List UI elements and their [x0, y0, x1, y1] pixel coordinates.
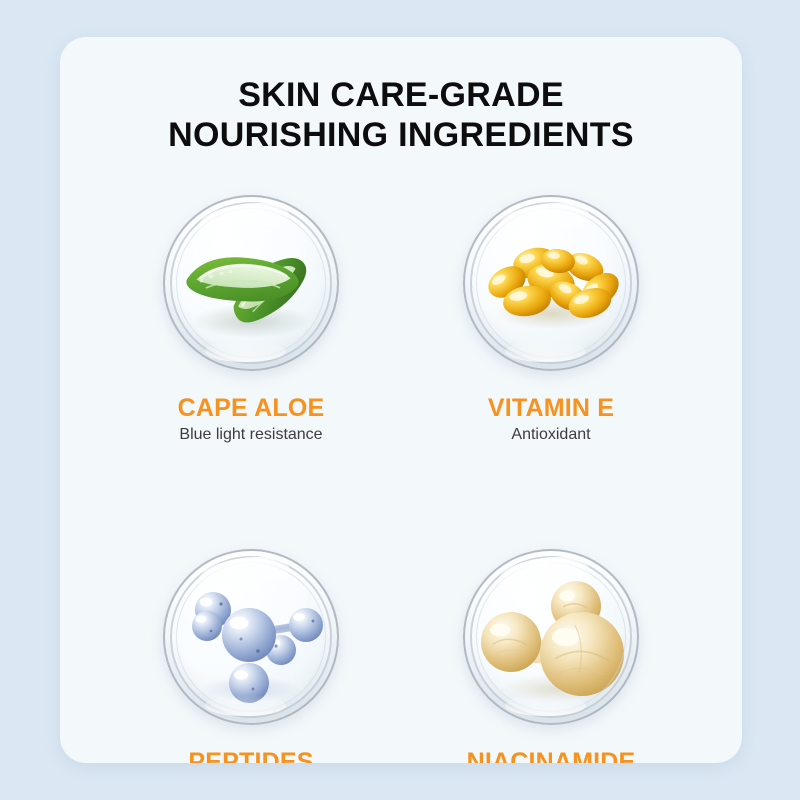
ingredient-description: Blue light resistance [178, 425, 325, 445]
page-background: SKIN CARE-GRADE NOURISHING INGREDIENTS [0, 0, 800, 800]
dish-inner-ring-secondary [176, 208, 326, 358]
ingredient-label-peptides: PEPTIDES Antioxidant [188, 725, 313, 763]
petri-dish-cape-aloe [163, 195, 339, 371]
ingredient-row-2: PEPTIDES Antioxidant [60, 549, 742, 763]
ingredient-item-niacinamide[interactable]: NIACINAMIDE Brightening [432, 549, 670, 763]
ingredient-card: SKIN CARE-GRADE NOURISHING INGREDIENTS [60, 37, 742, 763]
ingredient-item-vitamin-e[interactable]: VITAMIN E Antioxidant [432, 195, 670, 445]
petri-dish-vitamin-e [463, 195, 639, 371]
page-title-line-2: NOURISHING INGREDIENTS [60, 115, 742, 155]
dish-inner-ring-secondary [176, 562, 326, 712]
dish-inner-ring-secondary [476, 208, 626, 358]
ingredient-item-peptides[interactable]: PEPTIDES Antioxidant [132, 549, 370, 763]
ingredient-name: VITAMIN E [488, 394, 614, 422]
ingredient-grid: CAPE ALOE Blue light resistance [60, 195, 742, 763]
ingredient-name: CAPE ALOE [178, 394, 325, 422]
petri-dish-peptides [163, 549, 339, 725]
ingredient-description: Antioxidant [488, 425, 614, 445]
ingredient-label-cape-aloe: CAPE ALOE Blue light resistance [178, 371, 325, 445]
ingredient-label-vitamin-e: VITAMIN E Antioxidant [488, 371, 614, 445]
ingredient-item-cape-aloe[interactable]: CAPE ALOE Blue light resistance [132, 195, 370, 445]
petri-dish-niacinamide [463, 549, 639, 725]
ingredient-label-niacinamide: NIACINAMIDE Brightening [467, 725, 636, 763]
ingredient-name: PEPTIDES [188, 748, 313, 763]
ingredient-row-1: CAPE ALOE Blue light resistance [60, 195, 742, 445]
ingredient-name: NIACINAMIDE [467, 748, 636, 763]
page-title-line-1: SKIN CARE-GRADE [238, 76, 564, 114]
dish-inner-ring-secondary [476, 562, 626, 712]
page-title: SKIN CARE-GRADE NOURISHING INGREDIENTS [60, 75, 742, 155]
